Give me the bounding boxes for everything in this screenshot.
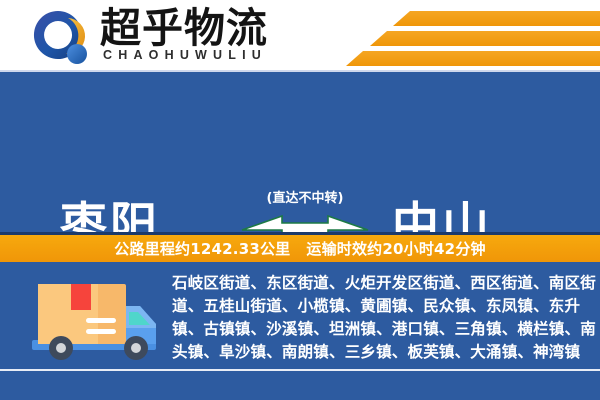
duration-text: 运输时效约20小时42分钟	[306, 238, 485, 259]
brand-name-en: CHAOHUWULIU	[103, 48, 267, 62]
stripe-top	[393, 11, 600, 26]
route-note-direct: (直达不中转)	[240, 190, 370, 208]
distance-text: 公路里程约1242.33公里	[114, 238, 290, 259]
brand-name-cn: 超乎物流	[100, 6, 268, 50]
bottom-divider	[0, 369, 600, 371]
logistics-route-banner: 超乎物流 CHAOHUWULIU 枣阳 (直达不中转) 【往返运输】 中山 公路…	[0, 0, 600, 400]
route-panel: 枣阳 (直达不中转) 【往返运输】 中山	[0, 72, 600, 232]
three-orange-speed-stripes-icon	[330, 0, 600, 72]
stripe-bottom	[346, 51, 600, 66]
circular-q-crescent-logo-icon	[32, 9, 94, 67]
header: 超乎物流 CHAOHUWULIU	[0, 0, 600, 72]
info-bar: 公路里程约1242.33公里 运输时效约20小时42分钟	[0, 235, 600, 262]
coverage-areas-text: 石岐区街道、东区街道、火炬开发区街道、西区街道、南区街道、五桂山街道、小榄镇、黄…	[172, 272, 596, 364]
delivery-truck-icon	[28, 276, 160, 362]
stripe-middle	[370, 31, 600, 46]
